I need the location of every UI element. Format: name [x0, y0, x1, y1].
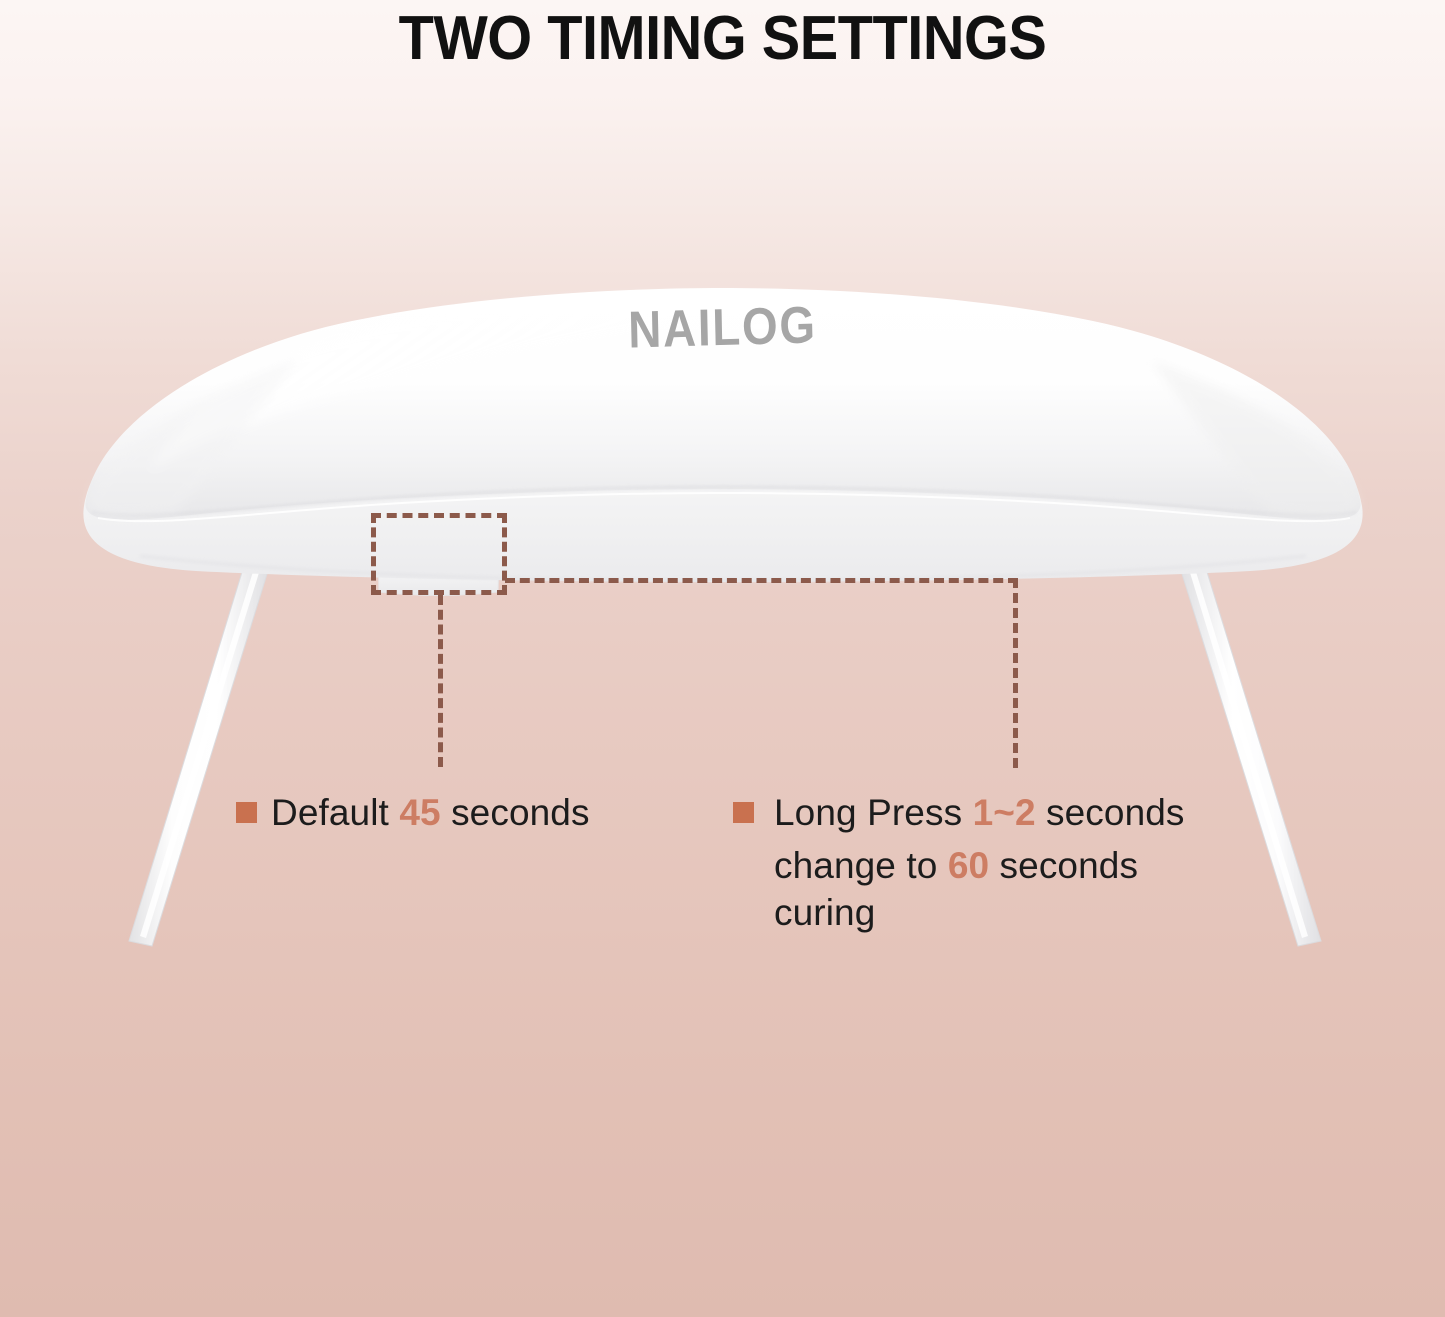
callout-longpress-line2-value: 60: [948, 845, 989, 886]
callout-longpress-line1-suffix: seconds: [1036, 792, 1185, 833]
callout-default-timing: Default 45 seconds: [271, 789, 590, 836]
brand-letter-o-icon: O: [741, 297, 780, 356]
brand-logo: NAILOG: [86, 281, 1358, 374]
callout-longpress-line2: change to 60 seconds curing: [774, 842, 1244, 936]
infographic-canvas: TWO TIMING SETTINGS: [0, 0, 1445, 1317]
leader-line-right-vertical: [1013, 578, 1018, 768]
page-title: TWO TIMING SETTINGS: [51, 2, 1395, 76]
leader-line-right-horizontal: [505, 578, 1018, 583]
brand-o-slash: [754, 324, 769, 329]
button-highlight-box: [371, 513, 507, 595]
brand-text-part1: NAIL: [628, 298, 743, 359]
callout-longpress-line1-value: 1~2: [973, 792, 1036, 833]
callout-default-suffix: seconds: [441, 792, 590, 833]
callout-default-prefix: Default: [271, 792, 399, 833]
callout-longpress-line2-prefix: change to: [774, 845, 948, 886]
callout-longpress-line1-prefix: Long Press: [774, 792, 973, 833]
callout-default-value: 45: [399, 792, 440, 833]
callout-longpress-line1: Long Press 1~2 seconds: [774, 792, 1185, 833]
bullet-square-left: [236, 802, 257, 823]
brand-text-part2: G: [779, 296, 818, 355]
callout-long-press-timing: Long Press 1~2 seconds change to 60 seco…: [774, 789, 1244, 936]
leader-line-left-vertical: [438, 595, 443, 767]
bullet-square-right: [733, 802, 754, 823]
